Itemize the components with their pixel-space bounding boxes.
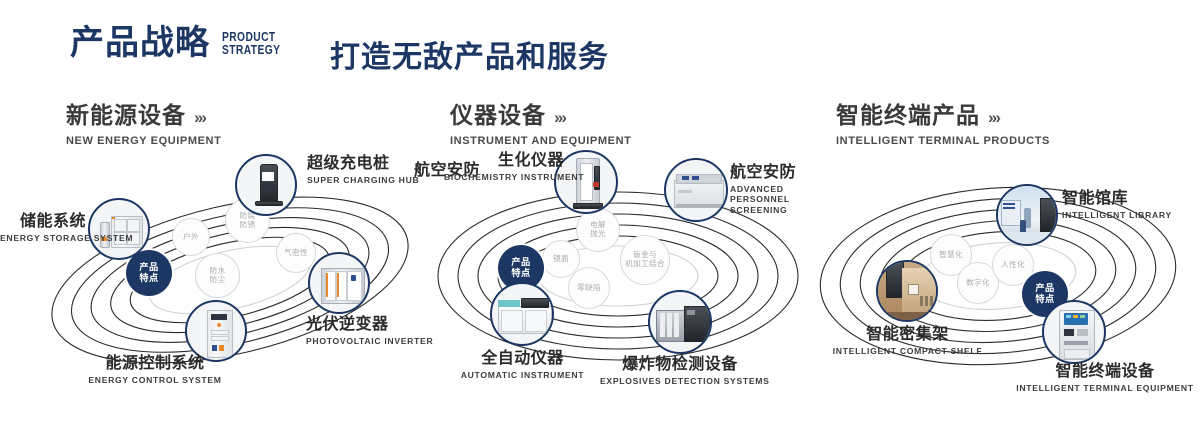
node-label-intelligent-library: 智能馆库 INTELLIGENT LIBRARY: [1062, 190, 1172, 220]
feature-bubble: 电解 抛光: [576, 208, 620, 252]
node-intelligent-library[interactable]: [996, 184, 1058, 246]
section-title-en-intelligent-terminal: INTELLIGENT TERMINAL PRODUCTS: [836, 135, 1050, 147]
node-label-automatic-instrument: 全自动仪器 AUTOMATIC INSTRUMENT: [430, 350, 615, 380]
feature-bubble: 钣金与 机加工结合: [620, 235, 670, 285]
cluster-instrument: 镜面 电解 抛光 钣金与 机加工结合 零缺陷 产品特点 航空安防 生化仪器 BI…: [420, 150, 820, 410]
section-title-cn-intelligent-terminal: 智能终端产品›››: [836, 96, 1050, 130]
chevron-right-icon: ›››: [554, 108, 565, 127]
section-title-en-new-energy: NEW ENERGY EQUIPMENT: [66, 135, 221, 147]
feature-bubble: 气密性: [276, 233, 316, 273]
node-label-energy-control-system: 能源控制系统 ENERGY CONTROL SYSTEM: [70, 355, 240, 385]
core-bubble-product-features: 产品特点: [126, 250, 172, 296]
page-title-en-line2: STRATEGY: [222, 44, 280, 57]
section-title-cn-instrument: 仪器设备›››: [450, 96, 631, 130]
section-heading-new-energy: 新能源设备››› NEW ENERGY EQUIPMENT: [66, 96, 221, 147]
cluster-new-energy: 户外 防腐 防锈 防水 防尘 气密性 产品特点 储能系统 ENERGY STOR…: [30, 150, 430, 410]
node-energy-storage-system[interactable]: [88, 198, 150, 260]
section-title-text-intelligent-terminal: 智能终端产品: [836, 102, 980, 128]
page-slogan: 打造无敌产品和服务: [330, 32, 609, 76]
cluster-intelligent-terminal: 智慧化 数字化 人性化 产品特点 智能馆库 INTELLIGENT LIBRAR…: [800, 150, 1200, 410]
feature-bubble: 户外: [172, 218, 210, 256]
chevron-right-icon: ›››: [988, 108, 999, 127]
node-explosives-detection-systems[interactable]: [648, 290, 712, 354]
feature-bubble: 零缺陷: [568, 267, 610, 309]
page-title-en: PRODUCT STRATEGY: [222, 31, 280, 60]
node-label-energy-storage-system: 储能系统 ENERGY STORAGE SYSTEM: [0, 213, 86, 243]
node-advanced-personnel-screening[interactable]: [664, 158, 728, 222]
product-strategy-infographic: 产品战略 PRODUCT STRATEGY 打造无敌产品和服务 新能源设备›››…: [0, 0, 1200, 422]
page-title: 产品战略: [70, 26, 210, 60]
node-photovoltaic-inverter[interactable]: [308, 252, 370, 314]
node-energy-control-system[interactable]: [185, 300, 247, 362]
node-label-intelligent-compact-shelf: 智能密集架 INTELLIGENT COMPACT SHELF: [825, 326, 990, 356]
section-title-cn-new-energy: 新能源设备›››: [66, 96, 221, 130]
section-title-text-instrument: 仪器设备: [450, 102, 546, 128]
node-label-intelligent-terminal-equipment: 智能终端设备 INTELLIGENT TERMINAL EQUIPMENT: [1010, 363, 1200, 393]
node-label-explosives-detection-systems: 爆炸物检测设备 EXPLOSIVES DETECTION SYSTEMS: [600, 356, 760, 386]
feature-bubble: 防水 防尘: [195, 253, 240, 298]
node-label-photovoltaic-inverter: 光伏逆变器 PHOTOVOLTAIC INVERTER: [306, 316, 433, 346]
section-title-en-instrument: INSTRUMENT AND EQUIPMENT: [450, 135, 631, 147]
node-label-biochemistry-instrument: 生化仪器 BIOCHEMISTRY INSTRUMENT: [444, 152, 564, 182]
node-super-charging-hub[interactable]: [235, 154, 297, 216]
section-heading-instrument: 仪器设备››› INSTRUMENT AND EQUIPMENT: [450, 96, 631, 147]
node-automatic-instrument[interactable]: [490, 282, 554, 346]
section-heading-intelligent-terminal: 智能终端产品››› INTELLIGENT TERMINAL PRODUCTS: [836, 96, 1050, 147]
section-title-text-new-energy: 新能源设备: [66, 102, 186, 128]
chevron-right-icon: ›››: [194, 108, 205, 127]
node-intelligent-compact-shelf[interactable]: [876, 260, 938, 322]
page-header: 产品战略 PRODUCT STRATEGY: [70, 26, 293, 60]
node-intelligent-terminal-equipment[interactable]: [1042, 300, 1106, 364]
